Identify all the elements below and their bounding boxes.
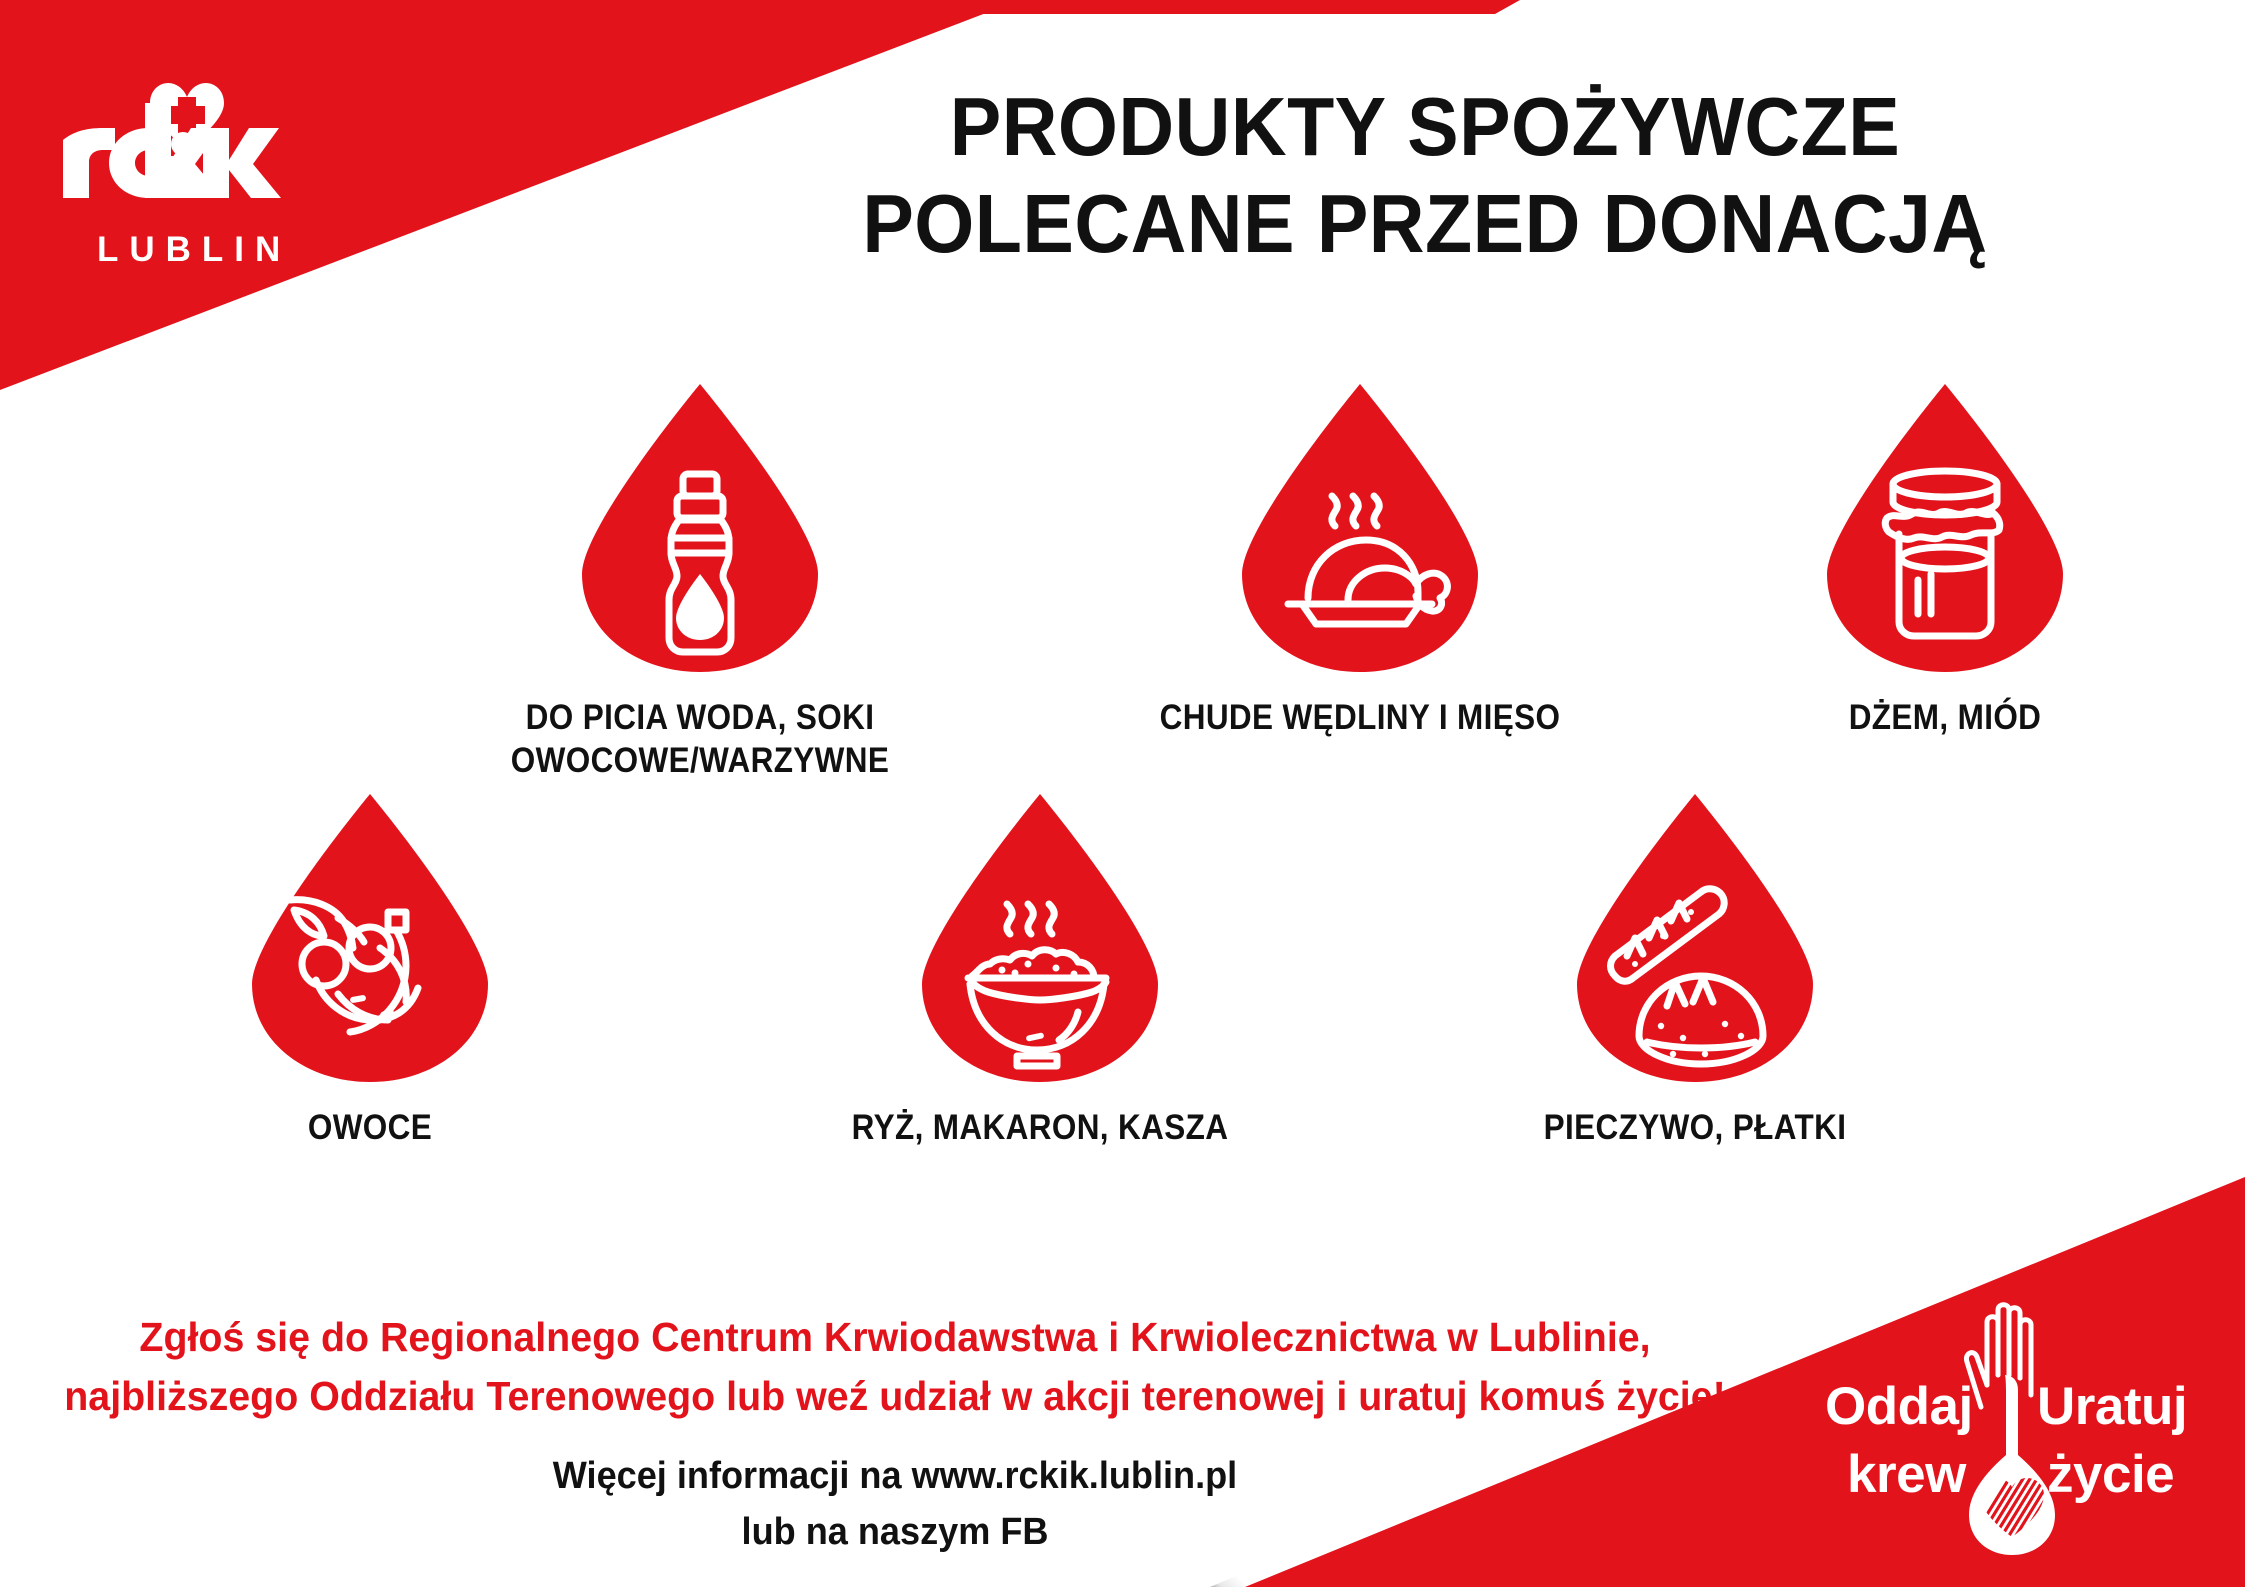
food-item-water: DO PICIA WODA, SOKI OWOCOWE/WARZYWNE bbox=[350, 378, 1050, 782]
food-item-fruit: OWOCE bbox=[20, 788, 720, 1150]
info-text: Więcej informacji na www.rckik.lublin.pl… bbox=[0, 1448, 1790, 1560]
food-item-bread: PIECZYWO, PŁATKI bbox=[1345, 788, 2045, 1150]
food-item-label: RYŻ, MAKARON, KASZA bbox=[725, 1107, 1355, 1150]
drop-shape-fruit bbox=[20, 788, 720, 1093]
bread-loaf-and-baguette-icon bbox=[1565, 788, 1825, 1088]
call-to-action: Zgłoś się do Regionalnego Centrum Krwiod… bbox=[0, 1308, 1790, 1427]
drop-shape-bread bbox=[1345, 788, 2045, 1093]
cta-line-1: Zgłoś się do Regionalnego Centrum Krwiod… bbox=[36, 1308, 1754, 1367]
drop-shape-meat bbox=[1010, 378, 1710, 683]
rckik-logo: LUBLIN bbox=[45, 70, 365, 270]
drop-shape-jam bbox=[1645, 378, 2245, 683]
roast-chicken-on-platter-icon bbox=[1230, 378, 1490, 678]
cherries-and-bananas-icon bbox=[240, 788, 500, 1088]
drop-shape-grain bbox=[690, 788, 1390, 1093]
food-item-label: DŻEM, MIÓD bbox=[1675, 697, 2215, 740]
food-item-meat: CHUDE WĘDLINY I MIĘSO bbox=[1010, 378, 1710, 740]
campaign-word-uratuj: Uratuj bbox=[2037, 1380, 2187, 1433]
rckik-wordmark-icon bbox=[45, 70, 345, 220]
food-item-jam: DŻEM, MIÓD bbox=[1645, 378, 2245, 740]
cta-line-2: najbliższego Oddziału Terenowego lub weź… bbox=[36, 1367, 1754, 1426]
jam-jar-icon bbox=[1815, 378, 2075, 678]
food-item-label: CHUDE WĘDLINY I MIĘSO bbox=[1045, 697, 1675, 740]
poster-canvas: LUBLIN PRODUKTY SPOŻYWCZE POLECANE PRZED… bbox=[0, 0, 2245, 1587]
campaign-word-krew: krew bbox=[1847, 1448, 1966, 1501]
campaign-word-zycie: życie bbox=[2047, 1448, 2174, 1501]
food-item-label: DO PICIA WODA, SOKI OWOCOWE/WARZYWNE bbox=[385, 697, 1015, 782]
food-item-grain: RYŻ, MAKARON, KASZA bbox=[690, 788, 1390, 1150]
steaming-rice-bowl-icon bbox=[910, 788, 1170, 1088]
info-line-1[interactable]: Więcej informacji na www.rckik.lublin.pl bbox=[45, 1448, 1746, 1504]
water-bottle-icon bbox=[570, 378, 830, 678]
food-item-label: PIECZYWO, PŁATKI bbox=[1380, 1107, 2010, 1150]
campaign-logo: Oddaj krew Uratuj życie bbox=[1819, 1275, 2209, 1565]
drop-shape-water bbox=[350, 378, 1050, 683]
info-line-2: lub na naszym FB bbox=[45, 1504, 1746, 1560]
campaign-word-oddaj: Oddaj bbox=[1825, 1380, 1973, 1433]
food-item-label: OWOCE bbox=[55, 1107, 685, 1150]
rckik-logo-subtitle: LUBLIN bbox=[97, 230, 365, 270]
